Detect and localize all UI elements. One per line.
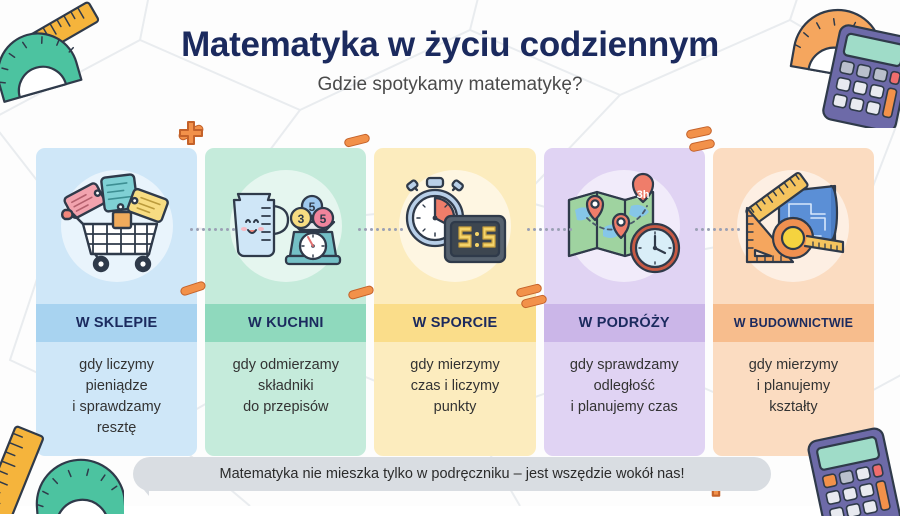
footer-message-bubble: Matematyka nie mieszka tylko w podręczni… bbox=[133, 457, 771, 491]
card-podroz[interactable]: 3h W PODRÓŻY gdy sprawdzamy odległość i … bbox=[544, 148, 705, 456]
card-sport-heading: W SPORCIE bbox=[374, 304, 535, 342]
card-sklep-icon-area bbox=[36, 148, 197, 304]
cards-row: W SKLEPIE gdy liczymy pieniądze i sprawd… bbox=[36, 148, 874, 456]
card-kuchnia-body: gdy odmierzamy składniki do przepisów bbox=[205, 342, 366, 456]
svg-text:3h: 3h bbox=[637, 189, 650, 201]
protractor-and-calculator-icon-top-right bbox=[786, 4, 900, 128]
card-sklep[interactable]: W SKLEPIE gdy liczymy pieniądze i sprawd… bbox=[36, 148, 197, 456]
card-sport[interactable]: W SPORCIE gdy mierzymy czas i liczymy pu… bbox=[374, 148, 535, 456]
card-budownictwo-heading: W BUDOWNICTWIE bbox=[713, 304, 874, 342]
card-sport-icon-area bbox=[374, 148, 535, 304]
connector-dots-3 bbox=[527, 228, 572, 231]
stopwatch-and-scoreboard-icon bbox=[393, 166, 517, 286]
card-budownictwo[interactable]: W BUDOWNICTWIE gdy mierzymy i planujemy … bbox=[713, 148, 874, 456]
ruler-blueprint-tape-measure-icon bbox=[731, 166, 855, 286]
header-block: Matematyka w życiu codziennym Gdzie spot… bbox=[0, 26, 900, 96]
svg-text:5: 5 bbox=[319, 212, 326, 226]
card-budownictwo-icon-area bbox=[713, 148, 874, 304]
connector-dots-4 bbox=[695, 228, 740, 231]
svg-text:5: 5 bbox=[308, 200, 315, 214]
card-podroz-body: gdy sprawdzamy odległość i planujemy cza… bbox=[544, 342, 705, 456]
card-sport-body: gdy mierzymy czas i liczymy punkty bbox=[374, 342, 535, 456]
ruler-and-protractor-icon-top-left bbox=[0, 0, 126, 110]
svg-text:3: 3 bbox=[297, 212, 304, 226]
card-podroz-icon-area: 3h bbox=[544, 148, 705, 304]
card-kuchnia[interactable]: 5 3 5 W KUCHNI gdy odmierzamy składniki … bbox=[205, 148, 366, 456]
folded-map-with-pins-and-clock-icon: 3h bbox=[561, 166, 687, 286]
page-title: Matematyka w życiu codziennym bbox=[0, 26, 900, 65]
card-podroz-heading: W PODRÓŻY bbox=[544, 304, 705, 342]
card-kuchnia-icon-area: 5 3 5 bbox=[205, 148, 366, 304]
shopping-cart-with-price-tags-icon bbox=[57, 166, 177, 286]
page-subtitle: Gdzie spotykamy matematykę? bbox=[0, 74, 900, 96]
connector-dots-2 bbox=[358, 228, 403, 231]
card-sklep-heading: W SKLEPIE bbox=[36, 304, 197, 342]
card-kuchnia-heading: W KUCHNI bbox=[205, 304, 366, 342]
infographic-canvas: Matematyka w życiu codziennym Gdzie spot… bbox=[0, 0, 900, 506]
orange-plus-icon-left bbox=[176, 118, 206, 148]
calculator-icon-bottom-right bbox=[800, 424, 900, 516]
measuring-jug-and-kitchen-scale-icon: 5 3 5 bbox=[224, 166, 348, 286]
ruler-and-protractor-icon-bottom-left bbox=[0, 422, 124, 514]
connector-dots-1 bbox=[190, 228, 235, 231]
